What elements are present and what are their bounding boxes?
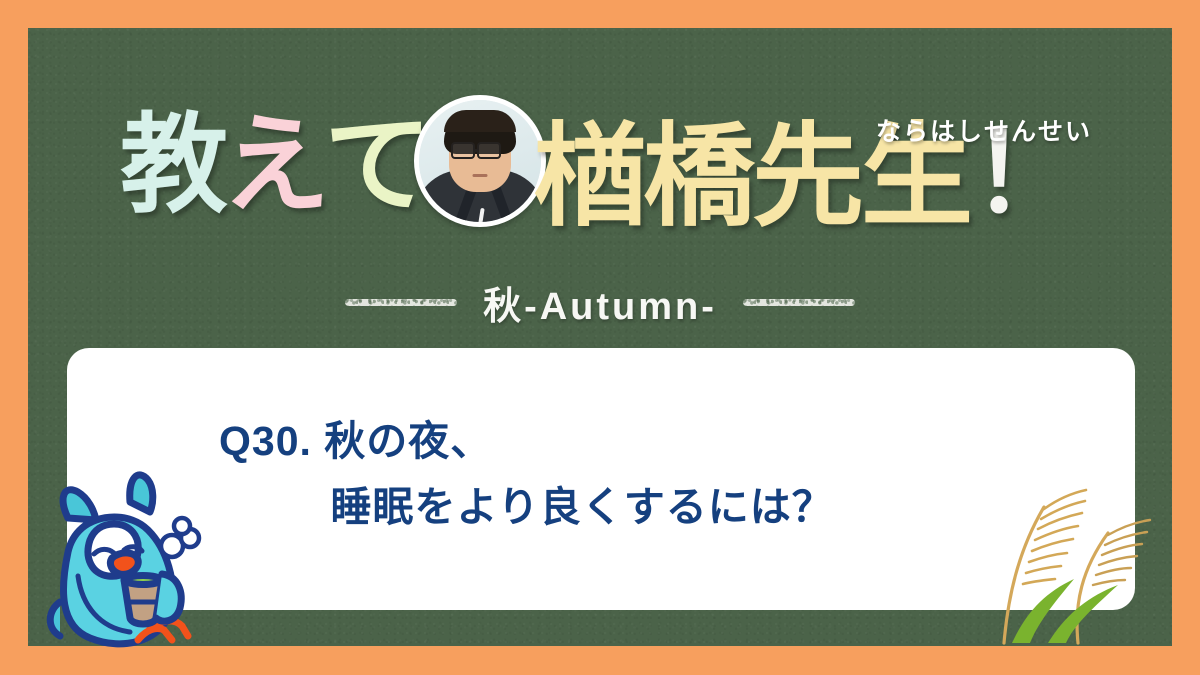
title-segment-e: え [222,111,328,219]
title-row: 教 え て 楢橋先生 ！ [28,76,1172,246]
question-card: Q30. 秋の夜、 睡眠をより良くするには？ [67,348,1135,610]
avatar [414,95,546,227]
slide-root: 教 え て 楢橋先生 ！ ならはしせんせい [0,0,1200,675]
title-exclamation: ！ [972,87,1080,243]
chalk-dash-left [345,299,457,306]
title-segment-oshie: 教 [120,111,226,219]
title-teacher-name: 楢橋先生 [534,86,970,248]
chalk-dash-right [743,299,855,306]
subtitle-text: 秋-Autumn- [483,275,717,330]
title-furigana: ならはしせんせい [876,112,1092,148]
question-text: Q30. 秋の夜、 睡眠をより良くするには？ [219,408,834,541]
subtitle-row: 秋-Autumn- [28,275,1172,330]
